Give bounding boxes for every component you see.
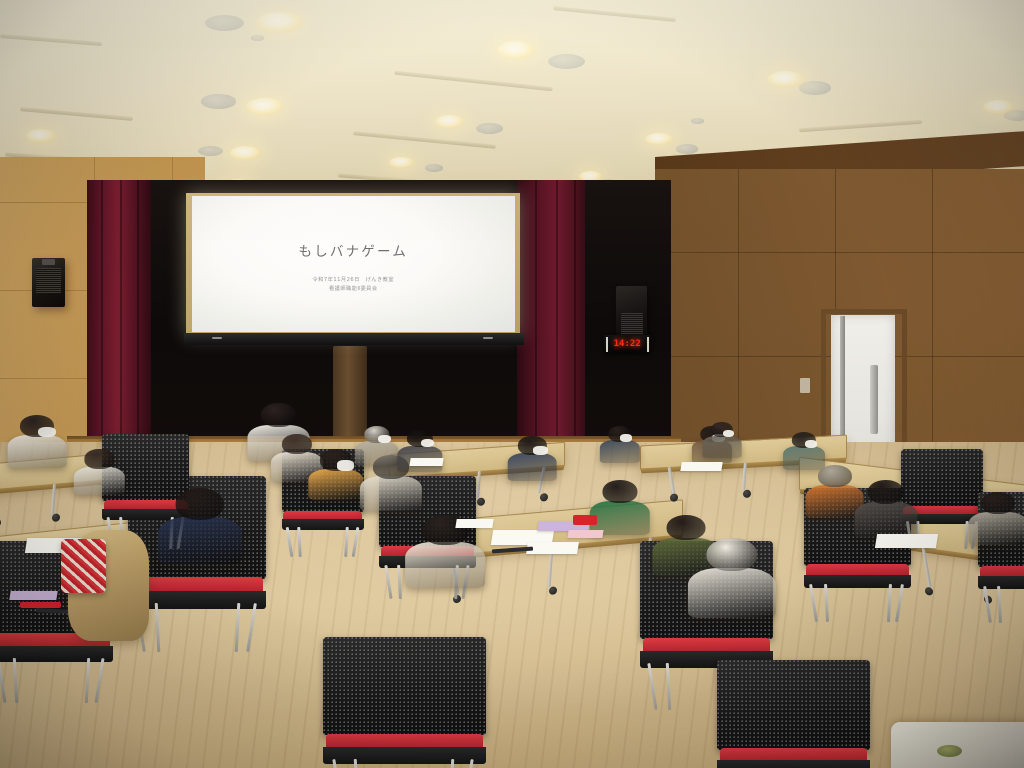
table-caster xyxy=(670,493,678,501)
chair-seat xyxy=(323,747,487,764)
slide-subtitle-line2: 看護師職能Ⅱ委員会 xyxy=(329,285,378,294)
face-mask xyxy=(723,430,735,437)
chair-leg xyxy=(964,521,968,549)
ceiling-downlight xyxy=(246,98,283,115)
ceiling-downlight xyxy=(768,71,804,87)
face-mask xyxy=(378,435,391,443)
chair-leg xyxy=(809,584,817,622)
ceiling-downlight xyxy=(389,157,414,168)
person-torso xyxy=(7,435,66,468)
chair-leg xyxy=(246,603,256,652)
person-head xyxy=(817,465,851,488)
ceiling-downlight xyxy=(645,133,673,145)
paper-sheet xyxy=(874,534,938,548)
ceiling-speaker-disc xyxy=(251,35,264,40)
person-attendee-left-1 xyxy=(7,415,66,469)
bag-clasp-icon xyxy=(937,745,962,757)
person-torso xyxy=(599,440,639,463)
ceiling-speaker-disc xyxy=(799,81,832,95)
red-game-card xyxy=(20,602,61,608)
chair-leg xyxy=(665,663,670,710)
wall-light-switch[interactable] xyxy=(800,378,810,393)
face-mask xyxy=(533,446,548,455)
person-attendee-side-right xyxy=(703,422,742,457)
stage-curtain-right xyxy=(517,180,585,449)
paper-sheet xyxy=(455,519,493,528)
ceiling-downlight xyxy=(983,100,1014,114)
photo-scene: もしバナゲーム 令和7年11月26日 げんき教室 看護師職能Ⅱ委員会 14:22 xyxy=(0,0,1024,768)
chair-mesh-back xyxy=(717,660,871,749)
person-attendee-front-navy xyxy=(158,488,242,565)
person-head xyxy=(260,403,297,427)
person-torso xyxy=(406,542,486,587)
wall-speaker-left xyxy=(32,258,65,307)
person-attendee-rear-1 xyxy=(599,426,639,463)
person-torso xyxy=(74,467,124,496)
chair-leg xyxy=(983,586,991,622)
person-head xyxy=(667,515,706,541)
person-attendee-white-hair xyxy=(355,426,399,466)
chair-leg xyxy=(286,527,293,557)
table-caster xyxy=(925,587,933,596)
chair-seat xyxy=(804,575,912,588)
chair-leg xyxy=(384,565,392,599)
person-torso xyxy=(158,517,242,565)
chair-leg xyxy=(896,584,904,622)
person-attendee-left-2 xyxy=(74,449,124,495)
ceiling-speaker-disc xyxy=(201,94,236,108)
floor-bag-bottom-right xyxy=(891,722,1024,768)
ceiling-downlight xyxy=(435,115,464,128)
ceiling-downlight xyxy=(497,41,535,58)
person-head xyxy=(602,480,637,503)
projection-screen-surface: もしバナゲーム 令和7年11月26日 げんき教室 看護師職能Ⅱ委員会 xyxy=(192,196,515,332)
ceiling-downlight xyxy=(256,12,303,33)
chair-leg xyxy=(235,603,240,653)
projection-screen-frame: もしバナゲーム 令和7年11月26日 げんき教室 看護師職能Ⅱ委員会 xyxy=(186,193,520,336)
person-attendee-striped xyxy=(688,538,776,619)
chair-foreground-right xyxy=(323,637,487,768)
person-torso xyxy=(355,441,399,466)
chair-seat xyxy=(0,646,113,662)
person-torso xyxy=(360,476,422,511)
chair-leg xyxy=(84,658,89,703)
face-mask xyxy=(38,427,56,438)
chair-leg xyxy=(997,585,1001,622)
face-mask xyxy=(805,440,818,448)
ceiling-speaker-disc xyxy=(476,123,503,134)
person-head xyxy=(85,449,114,468)
person-head xyxy=(707,538,758,572)
person-torso xyxy=(688,568,776,618)
digital-wall-clock: 14:22 xyxy=(604,335,650,354)
chair-leg xyxy=(297,527,301,557)
person-torso xyxy=(308,469,363,500)
chair-leg xyxy=(94,658,104,703)
chair-leg xyxy=(13,658,18,703)
person-attendee-right-edge xyxy=(854,480,917,538)
chair-leg xyxy=(351,527,358,557)
paper-sheet xyxy=(526,542,579,554)
person-head xyxy=(175,488,224,520)
clock-time-display: 14:22 xyxy=(614,339,641,349)
projection-screen-bottom-bar xyxy=(184,333,524,345)
slide-title: もしバナゲーム xyxy=(299,240,409,260)
person-torso xyxy=(508,453,557,481)
person-attendee-far-right xyxy=(969,492,1024,546)
chair-seat xyxy=(282,519,364,530)
chair-leg xyxy=(647,663,657,710)
table-caster xyxy=(540,493,548,502)
person-attendee-green xyxy=(589,480,649,535)
chair-leg xyxy=(887,584,891,622)
table-caster xyxy=(549,586,557,595)
chair-leg xyxy=(345,527,349,557)
paper-sheet xyxy=(409,458,443,466)
stage-curtain-left xyxy=(87,180,150,449)
person-head xyxy=(867,480,904,504)
ceiling-speaker-disc xyxy=(691,118,704,123)
chair-seat xyxy=(717,760,871,768)
chair-bottom-right xyxy=(717,660,871,768)
ceiling-downlight xyxy=(230,146,261,160)
person-torso xyxy=(703,436,742,458)
paper-sheet xyxy=(680,462,722,471)
ceiling-speaker-disc xyxy=(425,164,443,172)
red-game-card xyxy=(573,515,597,525)
slide-subtitle-line1: 令和7年11月26日 げんき教室 xyxy=(312,276,394,285)
person-torso xyxy=(969,512,1024,545)
face-mask xyxy=(337,460,354,470)
chair-mesh-back xyxy=(323,637,487,735)
colored-sheet xyxy=(10,591,59,600)
person-torso xyxy=(854,502,917,538)
face-mask xyxy=(620,434,632,441)
person-attendee-darkblue xyxy=(508,436,557,481)
chair-leg xyxy=(824,584,828,622)
red-patterned-bag xyxy=(61,539,106,593)
ceiling-speaker-disc xyxy=(548,54,585,69)
chair-leg xyxy=(154,603,159,653)
ceiling-downlight xyxy=(26,129,57,143)
ceiling-speaker-disc xyxy=(676,144,699,153)
chair-leg xyxy=(397,565,401,599)
chair-leg xyxy=(0,658,6,703)
colored-sheet xyxy=(568,530,604,538)
person-head xyxy=(981,492,1015,515)
